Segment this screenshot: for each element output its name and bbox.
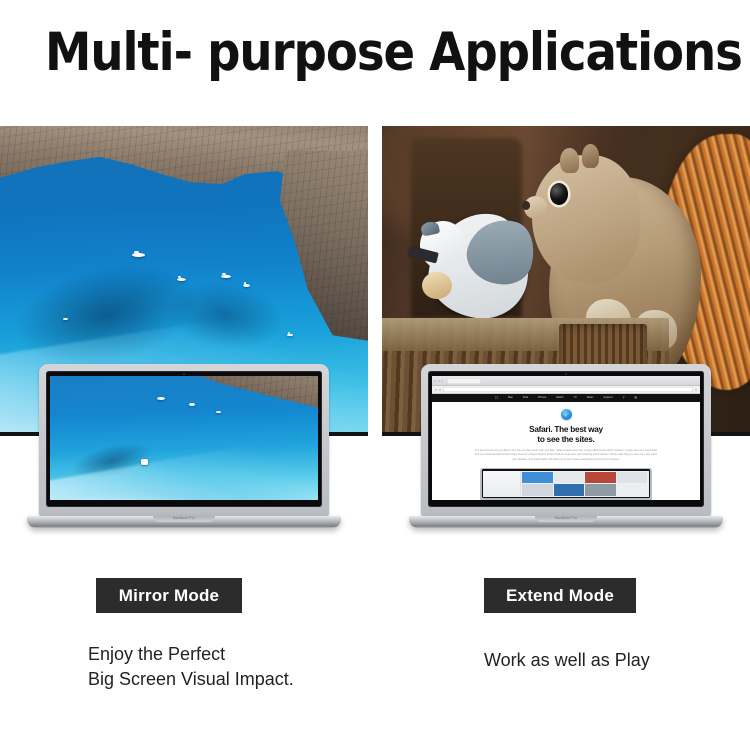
webcam-icon [183, 373, 185, 375]
laptop-extend-mode:  Mac iPad iPhone Watch TV Music Support… [421, 364, 711, 528]
laptop-lid:  Mac iPad iPhone Watch TV Music Support… [421, 364, 711, 516]
safari-heading: Safari. The best way to see the sites. [529, 425, 603, 444]
nav-item-music[interactable]: Music [587, 397, 594, 400]
inline-laptop-screen [483, 471, 649, 497]
minimize-icon[interactable] [438, 380, 440, 382]
apple-global-nav:  Mac iPad iPhone Watch TV Music Support… [432, 394, 700, 402]
boat-icon [141, 459, 148, 465]
laptop-lid [39, 364, 329, 516]
close-icon[interactable] [434, 380, 436, 382]
laptop-bezel:  Mac iPad iPhone Watch TV Music Support… [428, 371, 704, 507]
browser-toolbar [432, 386, 700, 394]
share-icon[interactable] [695, 389, 697, 391]
safari-hero-section: Safari. The best way to see the sites. T… [432, 402, 700, 500]
browser-titlebar [432, 376, 700, 386]
inline-laptop-lid [480, 468, 652, 500]
inline-tile [554, 484, 585, 495]
maximize-icon[interactable] [441, 380, 443, 382]
boat-icon [216, 411, 221, 413]
squirrel-ear-right [582, 144, 599, 168]
squirrel-ear-left [560, 148, 578, 174]
safari-heading-line-1: Safari. The best way [529, 425, 603, 435]
caption-extend-mode: Work as well as Play [484, 648, 650, 673]
webcam-icon [565, 373, 567, 375]
address-bar[interactable] [443, 387, 693, 392]
apple-logo-icon[interactable]:  [495, 396, 498, 400]
laptop-mirror-mode: MacBook Pro [39, 364, 329, 528]
caption-line-1: Enjoy the Perfect [88, 642, 294, 667]
safari-compass-icon [561, 409, 572, 420]
squirrel-eye [550, 183, 568, 205]
promo-page: Multi- purpose Applications [0, 0, 750, 750]
status-badge-extend-mode: Extend Mode [484, 578, 636, 613]
caption-line-2: Big Screen Visual Impact. [88, 667, 294, 692]
nuthatch-bird [430, 213, 529, 318]
inline-tile [522, 484, 553, 495]
laptop-brand-label: MacBook Pro [173, 516, 196, 520]
squirrel-head [532, 155, 639, 283]
inline-laptop-bezel [482, 469, 650, 498]
search-icon[interactable]: ⚲ [623, 397, 625, 400]
bird-head [420, 221, 466, 269]
laptop-bezel [46, 371, 322, 507]
laptop-screen [50, 376, 318, 500]
shopping-bag-icon[interactable]: ▧ [635, 397, 637, 400]
safari-paragraph: The best browser for your Mac is the onl… [475, 449, 657, 462]
nav-item-ipad[interactable]: iPad [523, 397, 528, 400]
caption-line-1: Work as well as Play [484, 648, 650, 673]
safari-inline-laptop [480, 468, 652, 500]
inline-tile [522, 472, 553, 483]
nav-item-watch[interactable]: Watch [556, 397, 563, 400]
inline-tile [617, 484, 648, 495]
safari-heading-line-2: to see the sites. [529, 435, 603, 445]
inline-tile [617, 472, 648, 483]
laptop-brand-label: MacBook Pro [555, 516, 578, 520]
inline-tile [585, 472, 616, 483]
laptop-screen:  Mac iPad iPhone Watch TV Music Support… [432, 376, 700, 500]
inline-sidebar [483, 471, 521, 497]
caption-mirror-mode: Enjoy the Perfect Big Screen Visual Impa… [88, 642, 294, 692]
boat-icon [189, 403, 195, 406]
nav-item-support[interactable]: Support [604, 397, 613, 400]
inline-tile [585, 484, 616, 495]
bird-nut [422, 272, 452, 299]
back-icon[interactable] [435, 389, 437, 391]
status-badge-mirror-mode: Mirror Mode [96, 578, 242, 613]
laptop-base: MacBook Pro [27, 516, 340, 528]
safari-webpage:  Mac iPad iPhone Watch TV Music Support… [432, 376, 700, 500]
laptop-base: MacBook Pro [409, 516, 722, 528]
inline-tile [554, 472, 585, 483]
nav-item-iphone[interactable]: iPhone [538, 397, 546, 400]
inline-tile-grid [521, 471, 649, 497]
boat-icon [177, 278, 186, 281]
browser-tab[interactable] [447, 378, 481, 384]
nav-item-tv[interactable]: TV [573, 397, 576, 400]
forward-icon[interactable] [439, 389, 441, 391]
page-title: Multi- purpose Applications [45, 22, 705, 84]
nav-item-mac[interactable]: Mac [508, 397, 513, 400]
